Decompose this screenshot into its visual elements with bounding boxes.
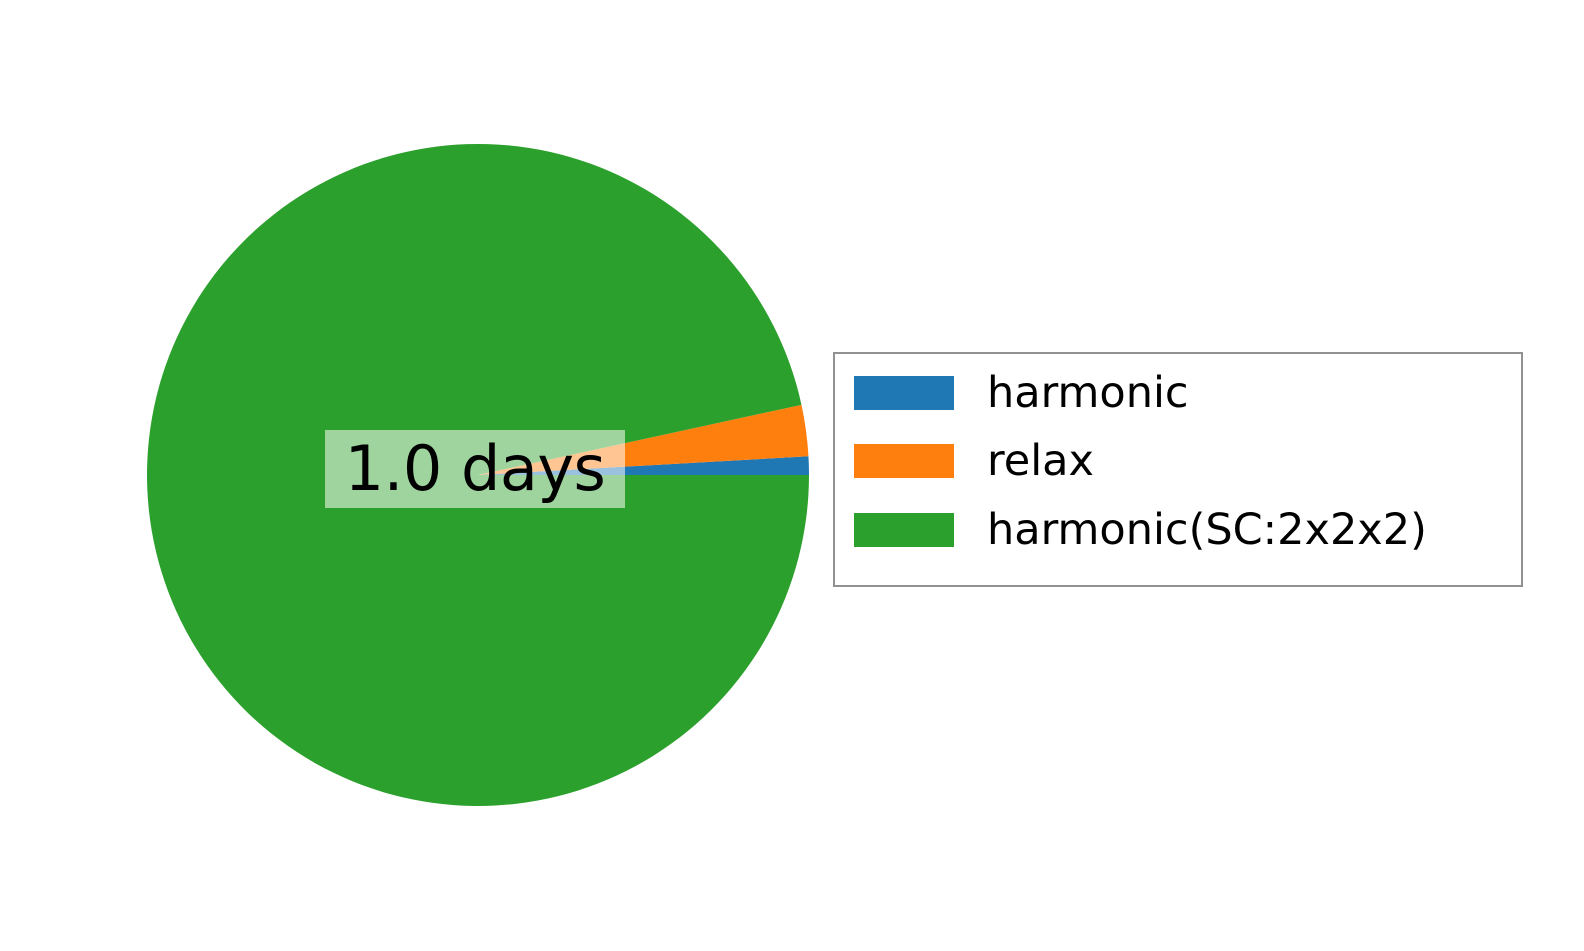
chart-legend: harmonic relax harmonic(SC:2x2x2) — [833, 352, 1523, 587]
pie-chart-area: 1.0 days — [0, 0, 960, 951]
center-label-text: 1.0 days — [345, 438, 606, 500]
legend-entry-relax: relax — [835, 437, 1094, 485]
legend-swatch-harmonic — [854, 376, 954, 410]
center-label-box: 1.0 days — [325, 430, 625, 508]
legend-entry-harmonic-sc: harmonic(SC:2x2x2) — [835, 506, 1427, 554]
legend-label-harmonic: harmonic — [987, 372, 1189, 415]
legend-label-harmonic-sc: harmonic(SC:2x2x2) — [987, 509, 1427, 552]
legend-entry-harmonic: harmonic — [835, 369, 1189, 417]
legend-swatch-relax — [854, 444, 954, 478]
figure-canvas: 1.0 days harmonic relax harmonic(SC:2x2x… — [0, 0, 1584, 951]
legend-swatch-harmonic-sc — [854, 513, 954, 547]
legend-label-relax: relax — [987, 440, 1094, 483]
